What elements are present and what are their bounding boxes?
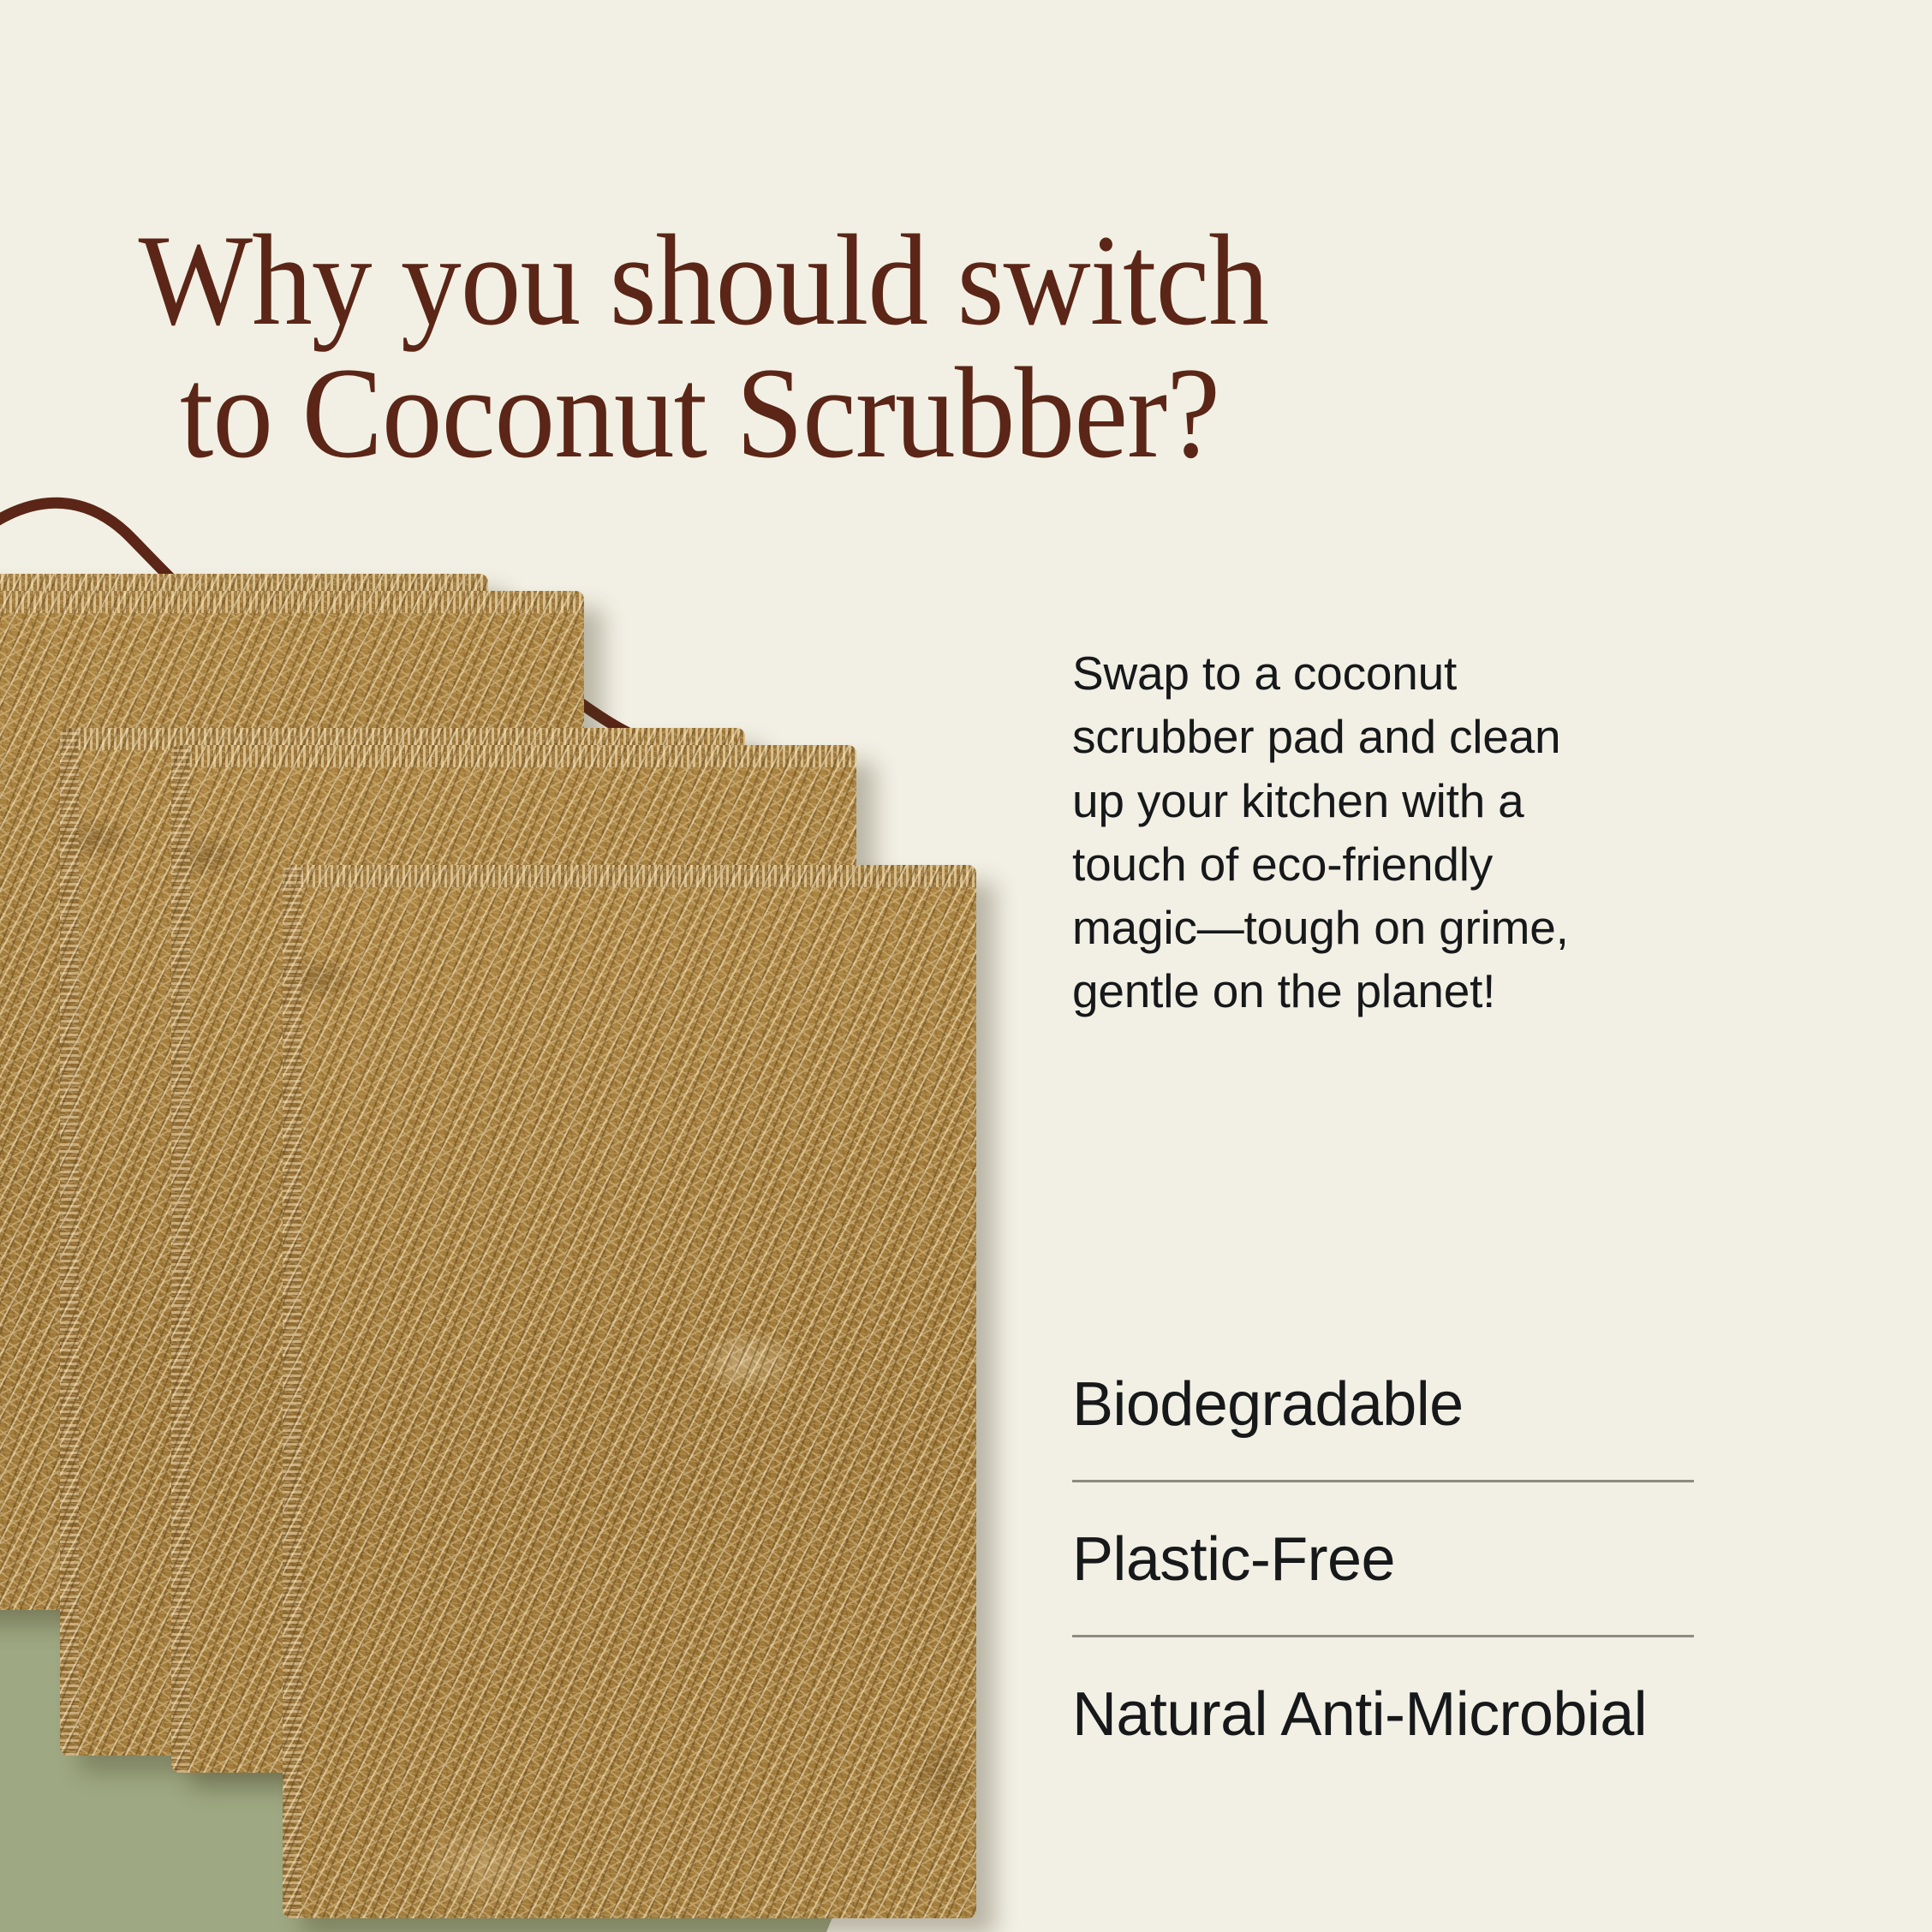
- intro-paragraph: Swap to a coconut scrubber pad and clean…: [1072, 641, 1577, 1023]
- page-title: Why you should switch to Coconut Scrubbe…: [180, 214, 1152, 480]
- feature-divider: [1072, 1480, 1694, 1482]
- feature-divider: [1072, 1635, 1694, 1637]
- headline-line-1: Why you should switch: [139, 214, 1152, 347]
- feature-list: Biodegradable Plastic-Free Natural Anti-…: [1072, 1374, 1694, 1745]
- feature-item-biodegradable: Biodegradable: [1072, 1374, 1694, 1435]
- promotional-poster: Why you should switch to Coconut Scrubbe…: [0, 0, 1932, 1932]
- product-image-coconut-scrubber-pads: [0, 822, 1002, 1932]
- headline-line-2: to Coconut Scrubber?: [180, 347, 1152, 480]
- scrubber-pad: [283, 865, 976, 1918]
- feature-item-natural-anti-microbial: Natural Anti-Microbial: [1072, 1684, 1694, 1745]
- feature-item-plastic-free: Plastic-Free: [1072, 1529, 1694, 1590]
